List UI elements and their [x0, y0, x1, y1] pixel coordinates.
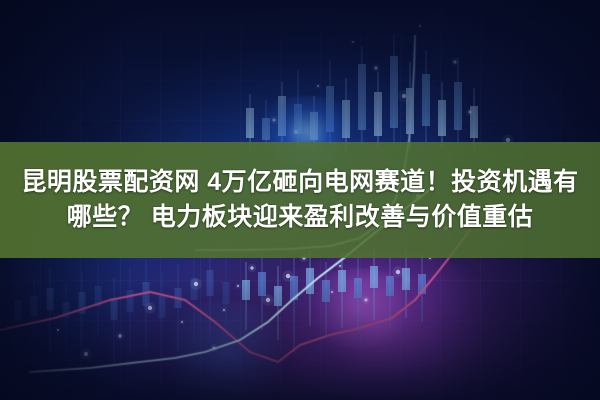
- headline-line-2: 哪些？ 电力板块迎来盈利改善与价值重估: [67, 203, 533, 233]
- headline-line-1: 昆明股票配资网 4万亿砸向电网赛道！投资机遇有: [21, 168, 578, 198]
- headline-band: 昆明股票配资网 4万亿砸向电网赛道！投资机遇有 哪些？ 电力板块迎来盈利改善与价…: [0, 142, 600, 258]
- banner-image: 昆明股票配资网 4万亿砸向电网赛道！投资机遇有 哪些？ 电力板块迎来盈利改善与价…: [0, 0, 600, 400]
